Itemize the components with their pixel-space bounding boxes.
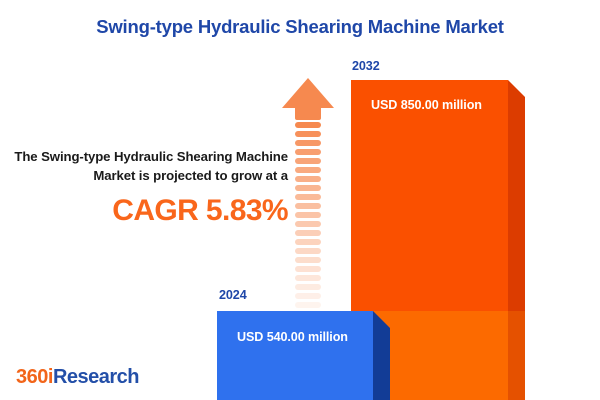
bar-2024: USD 540.00 million: [217, 311, 390, 400]
arrow-head: [282, 78, 334, 108]
arrow-stripe: [295, 203, 321, 209]
bar-2024-side: [373, 311, 390, 400]
up-arrow-icon: [282, 78, 334, 302]
arrow-stripe: [295, 131, 321, 137]
arrow-neck: [295, 108, 321, 120]
bar-2032-year-label: 2032: [352, 59, 380, 73]
statement-text: The Swing-type Hydraulic Shearing Machin…: [10, 148, 288, 185]
arrow-stripe: [295, 266, 321, 272]
arrow-stripe: [295, 221, 321, 227]
statement-block: The Swing-type Hydraulic Shearing Machin…: [10, 148, 288, 227]
arrow-stripe: [295, 293, 321, 299]
infographic-canvas: Swing-type Hydraulic Shearing Machine Ma…: [0, 0, 600, 400]
arrow-stripe: [295, 257, 321, 263]
arrow-stripe: [295, 167, 321, 173]
arrow-stripe: [295, 302, 321, 308]
arrow-stripe: [295, 176, 321, 182]
arrow-stripe: [295, 140, 321, 146]
arrow-stripe: [295, 248, 321, 254]
bar-2032-side-lower: [508, 311, 525, 400]
arrow-stripe: [295, 284, 321, 290]
bar-2032-value-label: USD 850.00 million: [371, 98, 482, 112]
arrow-stripes: [295, 122, 321, 302]
brand-logo-orange: 360i: [16, 366, 53, 388]
arrow-stripe: [295, 185, 321, 191]
arrow-stripe: [295, 275, 321, 281]
bar-2024-year-label: 2024: [219, 288, 247, 302]
arrow-stripe: [295, 239, 321, 245]
arrow-stripe: [295, 158, 321, 164]
arrow-stripe: [295, 212, 321, 218]
arrow-stripe: [295, 230, 321, 236]
bar-2024-face: [217, 311, 373, 400]
arrow-stripe: [295, 122, 321, 128]
arrow-stripe: [295, 194, 321, 200]
brand-logo: 360iResearch: [16, 366, 139, 389]
cagr-value: CAGR 5.83%: [10, 194, 288, 227]
arrow-stripe: [295, 149, 321, 155]
bar-2024-value-label: USD 540.00 million: [237, 330, 348, 344]
brand-logo-blue: Research: [53, 366, 139, 388]
page-title: Swing-type Hydraulic Shearing Machine Ma…: [0, 16, 600, 38]
